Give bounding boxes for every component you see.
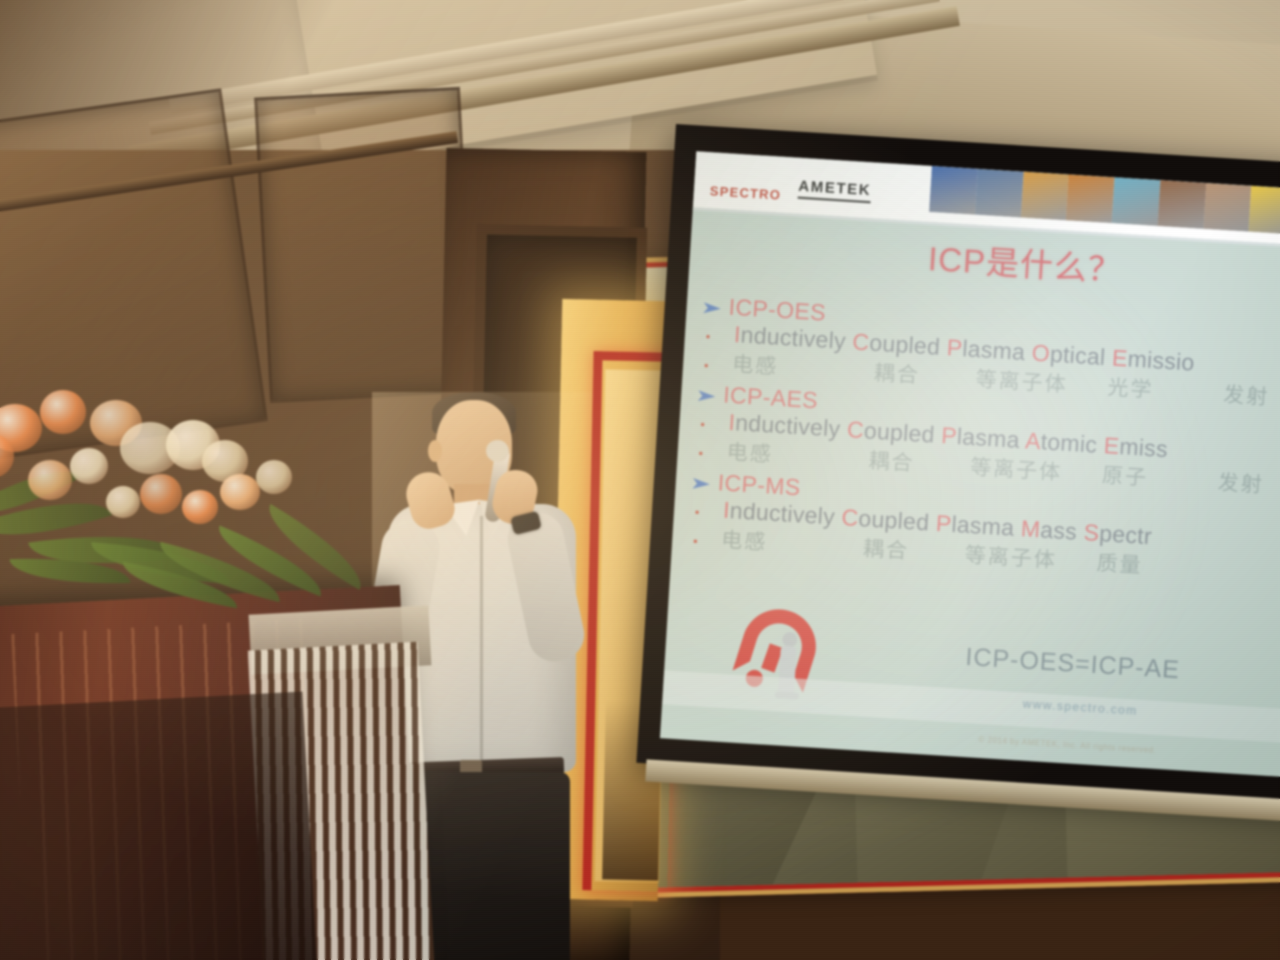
thumb-yellow [1249, 186, 1280, 235]
thumb-blue [929, 166, 978, 215]
square-bullet-icon: ▪ [691, 446, 727, 462]
flower-bloom [140, 474, 182, 514]
square-bullet-icon: ▪ [688, 505, 724, 521]
podium-shadow [0, 692, 317, 960]
square-bullet-icon: ▪ [693, 417, 729, 433]
footer-copyright: © 2014 by AMETEK, Inc. All rights reserv… [978, 735, 1156, 755]
flower-bouquet [0, 382, 410, 632]
flower-bloom [256, 460, 292, 494]
flower-bloom [220, 474, 260, 510]
slide-footer-band [662, 670, 1280, 744]
spectro-logo: SPECTRO [709, 183, 781, 202]
flower-bloom [40, 390, 86, 434]
arrow-bullet-icon: ➤ [695, 386, 738, 409]
thumb-tan [1203, 183, 1252, 232]
flower-bloom [70, 448, 108, 484]
slide-body: ➤ICP-OES▪Inductively Coupled Plasma Opti… [685, 292, 1280, 599]
thumb-amber [1066, 174, 1115, 223]
equation-text: ICP-OES=ICP-AE [965, 643, 1181, 685]
presentation-photo-scene: SPECTRO AMETEK ICP是什么？ ➤ICP-OES▪Inductiv… [0, 0, 1280, 960]
projected-slide: SPECTRO AMETEK ICP是什么？ ➤ICP-OES▪Inductiv… [660, 151, 1280, 778]
speaker-shirt-placket [480, 516, 483, 766]
thumb-orange [1020, 172, 1069, 221]
flower-bloom [28, 460, 72, 500]
arrow-bullet-icon: ➤ [689, 474, 732, 497]
foliage-leaf [256, 504, 375, 590]
flower-bloom [182, 490, 218, 524]
thumb-steel [975, 169, 1024, 218]
flower-bloom [106, 486, 140, 518]
arrow-bullet-icon: ➤ [700, 298, 743, 321]
square-bullet-icon: ▪ [697, 358, 733, 374]
speaker-ear [428, 440, 442, 462]
ametek-logo: AMETEK [798, 178, 872, 199]
square-bullet-icon: ▪ [698, 329, 734, 345]
thumb-brown [1158, 180, 1207, 229]
thumb-cyan [1112, 177, 1161, 226]
square-bullet-icon: ▪ [686, 533, 722, 549]
projection-screen-assembly: SPECTRO AMETEK ICP是什么？ ➤ICP-OES▪Inductiv… [636, 124, 1280, 805]
